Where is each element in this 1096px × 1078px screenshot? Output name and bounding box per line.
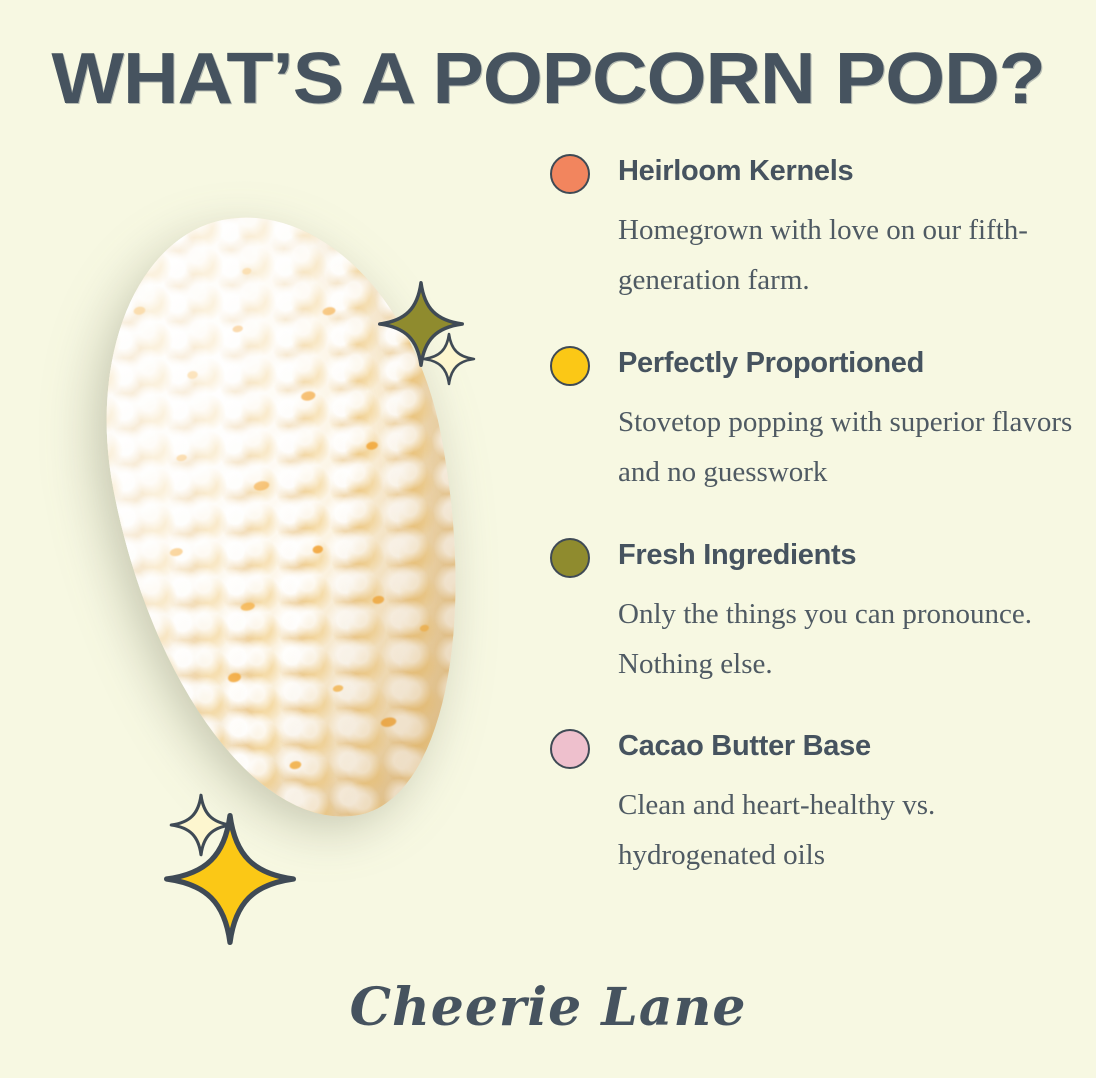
- feature-description: Stovetop popping with superior flavors a…: [618, 398, 1088, 498]
- brand-wordmark: Cheerie Lane: [0, 977, 1096, 1038]
- sparkle-small-cream-icon: [423, 331, 475, 387]
- feature-item-heirloom-kernels: Heirloom Kernels Homegrown with love on …: [548, 150, 1088, 306]
- sparkle-large-gold-icon: [164, 813, 296, 945]
- bullet-dot-icon: [550, 154, 590, 194]
- feature-heading: Cacao Butter Base: [618, 725, 1088, 767]
- feature-heading: Perfectly Proportioned: [618, 342, 1088, 384]
- feature-description: Clean and heart-healthy vs. hydrogenated…: [618, 781, 1088, 881]
- feature-item-fresh-ingredients: Fresh Ingredients Only the things you ca…: [548, 534, 1088, 690]
- feature-heading: Heirloom Kernels: [618, 150, 1088, 192]
- feature-list: Heirloom Kernels Homegrown with love on …: [548, 150, 1088, 881]
- feature-heading: Fresh Ingredients: [618, 534, 1088, 576]
- product-image: [60, 185, 530, 925]
- bullet-dot-icon: [550, 538, 590, 578]
- feature-item-perfectly-proportioned: Perfectly Proportioned Stovetop popping …: [548, 342, 1088, 498]
- feature-description: Homegrown with love on our fifth-generat…: [618, 206, 1088, 306]
- bullet-dot-icon: [550, 729, 590, 769]
- page-title: WHAT’S A POPCORN POD?: [0, 38, 1096, 120]
- feature-item-cacao-butter-base: Cacao Butter Base Clean and heart-health…: [548, 725, 1088, 881]
- bullet-dot-icon: [550, 346, 590, 386]
- feature-description: Only the things you can pronounce. Nothi…: [618, 590, 1088, 690]
